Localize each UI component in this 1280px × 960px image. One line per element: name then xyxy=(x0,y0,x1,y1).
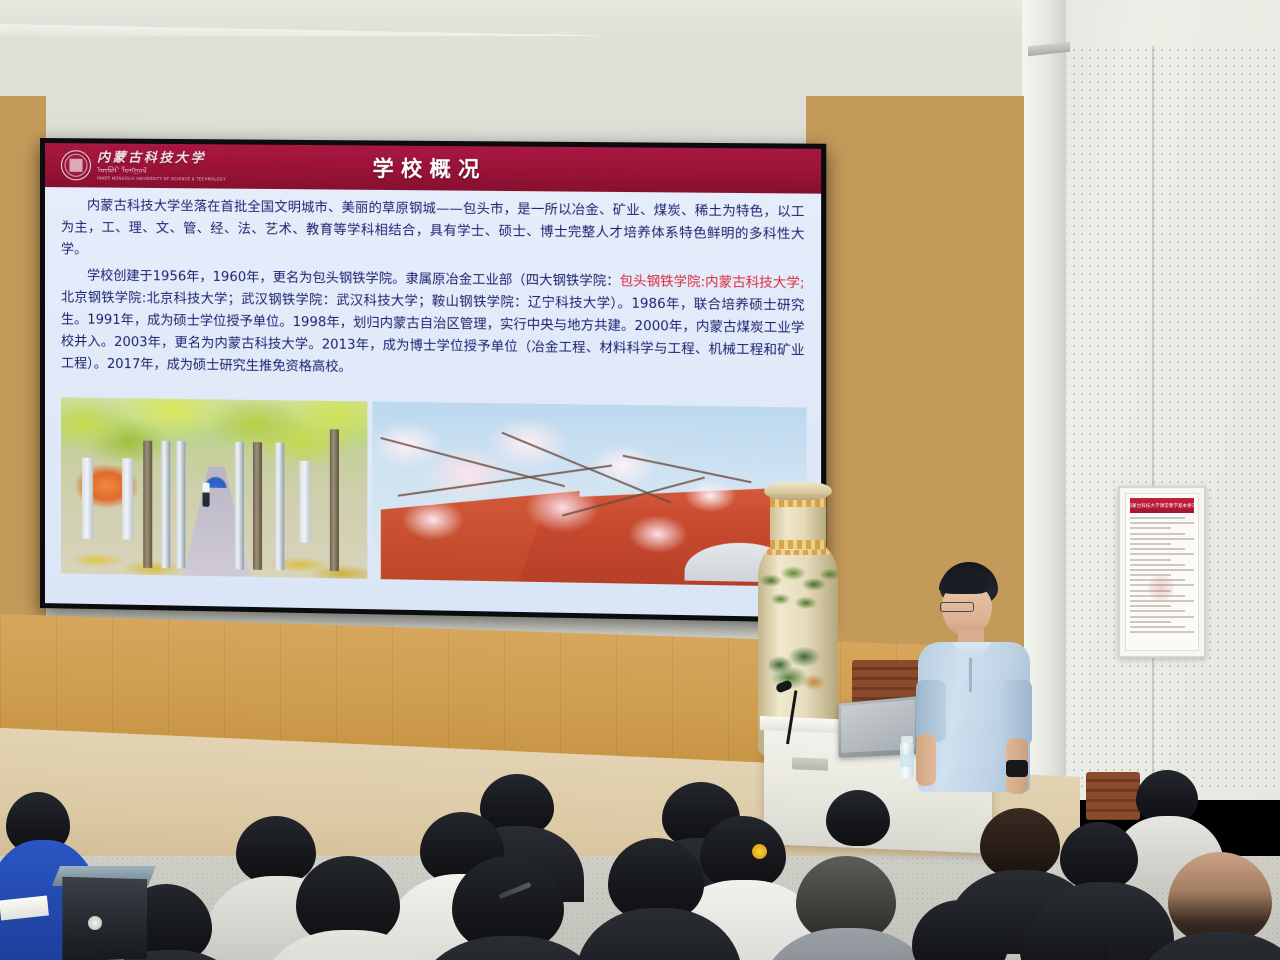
poster-seal-icon xyxy=(1148,575,1174,601)
poster-title: 内蒙古科技大学课堂教学基本要求 xyxy=(1130,498,1194,513)
paragraph-2-part-1: 学校创建于1956年，1960年，更名为包头钢铁学院。隶属原冶金工业部（四大钢铁… xyxy=(87,268,620,289)
audience-head xyxy=(236,816,316,884)
acoustic-perforated-panel xyxy=(1062,46,1280,788)
audience-head xyxy=(980,808,1060,878)
paragraph-2-part-2: 北京钢铁学院:北京科技大学；武汉钢铁学院：武汉科技大学；鞍山钢铁学院：辽宁科技大… xyxy=(61,290,805,375)
slide-body: 内蒙古科技大学坐落在首批全国文明城市、美丽的草原钢城——包头市，是一所以冶金、矿… xyxy=(61,195,805,389)
slide-title: 学校概况 xyxy=(45,143,821,194)
speaker-driver-icon xyxy=(88,916,102,930)
audience-head xyxy=(700,816,786,890)
glasses-icon xyxy=(940,602,974,612)
audience xyxy=(0,760,1280,960)
photo-campus-autumn xyxy=(61,397,367,579)
lecture-hall-photo: 内蒙古科技大学 ᠦᠪᠦᠷ ᠮᠣᠩᠭᠣᠯ INNER MONGOLIA UNIVE… xyxy=(0,0,1280,960)
audience-head xyxy=(1168,852,1272,944)
flower-hairclip-icon xyxy=(752,844,767,859)
slide-paragraph-1: 内蒙古科技大学坐落在首批全国文明城市、美丽的草原钢城——包头市，是一所以冶金、矿… xyxy=(61,195,805,269)
slide-paragraph-2: 学校创建于1956年，1960年，更名为包头钢铁学院。隶属原冶金工业部（四大钢铁… xyxy=(61,265,805,386)
slide-photo-row xyxy=(61,397,807,587)
wall-seam xyxy=(1152,46,1154,788)
projection-screen: 内蒙古科技大学 ᠦᠪᠦᠷ ᠮᠣᠩᠭᠣᠯ INNER MONGOLIA UNIVE… xyxy=(45,143,821,618)
paragraph-2-highlight: 包头钢铁学院:内蒙古科技大学; xyxy=(620,274,805,291)
audience-head xyxy=(826,790,890,846)
wall-poster: 内蒙古科技大学课堂教学基本要求 xyxy=(1118,486,1206,658)
photo-campus-blossom xyxy=(372,402,806,587)
presentation-slide: 内蒙古科技大学 ᠦᠪᠦᠷ ᠮᠣᠩᠭᠣᠯ INNER MONGOLIA UNIVE… xyxy=(45,143,821,618)
projection-screen-frame: 内蒙古科技大学 ᠦᠪᠦᠷ ᠮᠣᠩᠭᠣᠯ INNER MONGOLIA UNIVE… xyxy=(40,138,826,623)
stage-monitor-speaker xyxy=(62,877,147,960)
paragraph-1-text: 内蒙古科技大学坐落在首批全国文明城市、美丽的草原钢城——包头市，是一所以冶金、矿… xyxy=(61,198,805,257)
audience-head xyxy=(1060,822,1138,890)
